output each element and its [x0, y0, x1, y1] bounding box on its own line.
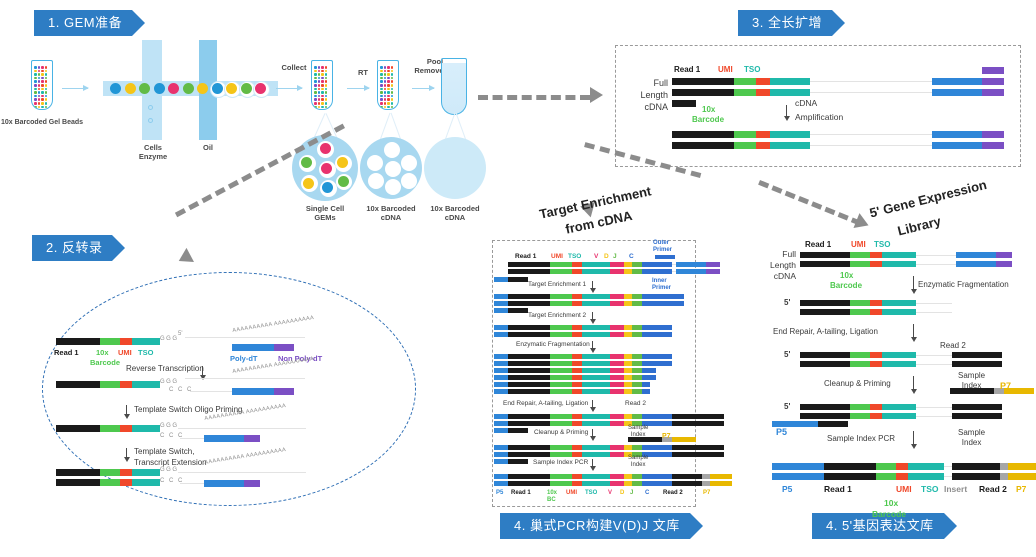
linker-line: [916, 303, 952, 304]
seg-barcode: [100, 479, 120, 486]
seg-barcode: [550, 474, 572, 479]
linker-line: [916, 264, 956, 265]
seg-j: [632, 262, 642, 267]
gem-droplet: [385, 161, 401, 177]
tag-tso: TSO: [138, 348, 153, 357]
barcode-dots: [380, 66, 396, 103]
seg-barcode: [876, 473, 896, 480]
seg-p5-blue: [494, 389, 508, 394]
seg-v: [610, 414, 624, 419]
seg-umi: [870, 261, 882, 267]
tag-10x: 10x: [840, 271, 853, 280]
seg-read1: [508, 421, 550, 426]
gem-droplet: [401, 173, 417, 189]
seg-d: [624, 445, 632, 450]
seg-tso: [582, 452, 610, 457]
tag-read1: Read 1: [515, 253, 536, 260]
seg-purple: [996, 252, 1012, 258]
seg-purple-free: [982, 67, 1004, 74]
seg-j: [632, 301, 642, 306]
seg-tso: [582, 421, 610, 426]
cell-bead: [301, 157, 312, 168]
legend-insert: Insert: [944, 484, 967, 494]
seg-barcode: [550, 481, 572, 486]
flow-arrow-3: [347, 88, 369, 89]
seg-p5-blue: [494, 294, 508, 299]
seg-read2: [952, 463, 1000, 470]
seg-j: [632, 382, 642, 387]
seg-d: [624, 474, 632, 479]
seg-c: [642, 368, 656, 373]
legend-read2: Read 2: [979, 484, 1007, 494]
seg-tso: [582, 332, 610, 337]
tag-read1: Read 1: [805, 240, 831, 249]
legend-read1: Read 1: [824, 484, 852, 494]
seg-barcode: [550, 414, 572, 419]
gel-bead: [168, 83, 179, 94]
seg-read2: [952, 361, 1002, 367]
seg-barcode: [734, 131, 756, 138]
seg-read2: [672, 474, 702, 479]
ge-step-3-arrow: [913, 376, 914, 390]
chip-label-oil: Oil: [190, 143, 226, 152]
seg-tso: [582, 375, 610, 380]
seg-tso: [582, 474, 610, 479]
seg-barcode: [100, 338, 120, 345]
gel-bead: [241, 83, 252, 94]
flow-arrow-2: [276, 88, 302, 89]
gel-bead: [110, 83, 121, 94]
seg-umi: [572, 445, 582, 450]
cell-bead: [320, 143, 331, 154]
seg-barcode: [550, 294, 572, 299]
cell-bead: [338, 176, 349, 187]
seg-non-polydT: [274, 388, 294, 395]
label-outer-primer: Outer Primer: [653, 240, 672, 254]
gem-label-barcoded-cdna-1: 10x Barcoded cDNA: [363, 204, 419, 222]
gem-droplet: [401, 155, 417, 171]
seg-umi: [870, 413, 882, 419]
seg-barcode: [850, 261, 870, 267]
connector-to-gene-expression: [758, 180, 862, 226]
seg-v: [610, 301, 624, 306]
rt-step-3-arrow: [126, 448, 127, 458]
seg-tso: [882, 352, 916, 358]
linker-line: [916, 364, 952, 365]
seg-d: [624, 414, 632, 419]
seg-umi: [120, 381, 132, 388]
seg-c: [642, 474, 672, 479]
linker-line: [916, 416, 952, 417]
tube-body: [441, 63, 467, 115]
seg-read2: [952, 352, 1002, 358]
banner-amplify-label: 3. 全长扩增: [752, 15, 822, 30]
gem-label-barcoded-cdna-2: 10x Barcoded cDNA: [427, 204, 483, 222]
cell-particle: [148, 118, 153, 123]
seg-d: [624, 325, 632, 330]
rt-step-3b: Transcript Extension: [134, 458, 207, 467]
seg-barcode: [850, 413, 870, 419]
banner-full-length-amplification: 3. 全长扩增: [738, 10, 832, 36]
seg-tso: [770, 89, 810, 96]
seg-d: [624, 481, 632, 486]
seg-barcode: [550, 325, 572, 330]
seg-umi: [572, 474, 582, 479]
seg-blue: [676, 262, 706, 267]
seg-umi: [756, 89, 770, 96]
seg-read1: [508, 474, 550, 479]
seg-v: [610, 421, 624, 426]
mid-step-4: End Repair, A-tailing, Ligation: [503, 400, 588, 407]
tag-umi: UMI: [851, 240, 866, 249]
seg-v: [610, 262, 624, 267]
seg-v: [610, 361, 624, 366]
seg-c: [642, 389, 650, 394]
seg-p5-blue: [494, 445, 508, 450]
linker-line: [916, 255, 956, 256]
rt-step-2-arrow: [126, 405, 127, 415]
seg-barcode: [850, 309, 870, 315]
gel-bead: [125, 83, 136, 94]
seg-barcode: [876, 463, 896, 470]
legend-tso: TSO: [921, 484, 938, 494]
seg-read1: [508, 332, 550, 337]
mid-step-4-arrow: [592, 400, 593, 408]
seg-read1: [800, 309, 850, 315]
seg-v: [610, 389, 624, 394]
ge-step-4-arrow: [913, 431, 914, 445]
seg-j: [632, 445, 642, 450]
seg-c: [642, 325, 672, 330]
gem-droplet: [367, 155, 383, 171]
seg-sample-index: [702, 474, 710, 479]
seg-read1: [672, 142, 734, 149]
seg-tso: [132, 469, 160, 476]
seg-p5-blue: [494, 421, 508, 426]
seg-polydT: [232, 344, 274, 351]
seg-umi: [120, 425, 132, 432]
seg-barcode: [850, 300, 870, 306]
seg-umi: [572, 325, 582, 330]
seg-barcode: [734, 89, 756, 96]
seg-read1: [672, 131, 734, 138]
chip-label-cells-enzyme: Cells Enzyme: [126, 143, 180, 161]
seg-j: [632, 481, 642, 486]
tag-umi: UMI: [118, 348, 132, 357]
seg-tso: [582, 354, 610, 359]
mid-step-6-arrow: [592, 459, 593, 467]
flow-arrow-1: [62, 88, 88, 89]
seg-read1: [56, 425, 100, 432]
seg-tso: [908, 463, 944, 470]
seg-purple: [982, 78, 1004, 85]
seg-p5-blue: [494, 361, 508, 366]
tag-10x: 10x: [96, 348, 109, 357]
seg-barcode: [550, 445, 572, 450]
flow-arrow-4: [412, 88, 434, 89]
pooled-tube: [441, 58, 467, 115]
seg-tso: [882, 309, 916, 315]
banner-reverse-transcription: 2. 反转录: [32, 235, 112, 261]
mid-step-1-arrow: [592, 281, 593, 289]
legend-p5: P5: [782, 484, 792, 494]
seg-tso: [582, 294, 610, 299]
seg-d: [624, 382, 632, 387]
seg-tso: [770, 131, 810, 138]
seg-j: [632, 354, 642, 359]
collect-tube: [311, 60, 333, 110]
seg-tso: [132, 479, 160, 486]
banner-vdj-label: 4. 巢式PCR构建V(D)J 文库: [514, 518, 680, 533]
tag-read1: Read 1: [674, 65, 700, 74]
seg-v: [610, 445, 624, 450]
tag-polydT: Poly-dT: [230, 354, 258, 363]
seg-polydT: [204, 435, 244, 442]
seg-d: [624, 361, 632, 366]
seg-barcode: [850, 252, 870, 258]
cell-bead: [303, 178, 314, 189]
seg-barcode: [550, 301, 572, 306]
mrna-line: [185, 378, 305, 379]
seg-read2: [952, 404, 1002, 410]
mid-read2-label: Read 2: [625, 400, 646, 407]
mid-step-1: Target Enrichment 1: [528, 281, 586, 288]
seg-read1: [508, 368, 550, 373]
seg-read1: [508, 294, 550, 299]
seg-umi: [870, 252, 882, 258]
seg-c: [642, 354, 672, 359]
five-prime-label: 5': [784, 402, 790, 411]
gem-droplet: [368, 173, 384, 189]
seg-barcode: [550, 361, 572, 366]
seg-sample-index: [702, 481, 710, 486]
seg-barcode: [850, 352, 870, 358]
ge-heading-line2: Library: [896, 213, 942, 238]
gel-bead: [255, 83, 266, 94]
ge-full-length-label: Full Length cDNA: [762, 249, 796, 282]
seg-v: [610, 452, 624, 457]
linker-line: [916, 355, 952, 356]
pooled-cdna-circle: [424, 137, 486, 199]
seg-umi: [572, 375, 582, 380]
seg-read1: [508, 389, 550, 394]
linker-line: [916, 312, 952, 313]
seg-tso: [770, 78, 810, 85]
seg-j: [632, 332, 642, 337]
seg-read1: [508, 354, 550, 359]
seg-read1: [508, 375, 550, 380]
banner-gem-prep: 1. GEM准备: [34, 10, 132, 36]
connector-arrowhead: [175, 248, 194, 268]
seg-tso: [582, 445, 610, 450]
banner-rt-label: 2. 反转录: [46, 240, 102, 255]
seg-purple: [706, 262, 720, 267]
legend-umi: UMI: [896, 484, 912, 494]
seg-barcode: [734, 142, 756, 149]
seg-read1: [508, 301, 550, 306]
seg-p7: [710, 481, 732, 486]
seg-d: [624, 301, 632, 306]
seg-read2: [672, 421, 724, 426]
tag-barcode: Barcode: [830, 281, 862, 290]
gel-bead: [226, 83, 237, 94]
seg-j: [632, 325, 642, 330]
tag-read1: Read 1: [54, 348, 79, 357]
seg-tso: [582, 269, 610, 274]
seg-read1: [800, 252, 850, 258]
seg-umi: [572, 452, 582, 457]
seg-free-read1: [508, 277, 528, 282]
seg-blue: [956, 261, 996, 267]
seg-umi: [572, 389, 582, 394]
seg-d: [624, 269, 632, 274]
seg-tso: [582, 414, 610, 419]
seg-sample-index: [1000, 463, 1008, 470]
seg-free-read1: [508, 308, 528, 313]
gem-droplet: [384, 142, 400, 158]
seg-v: [610, 332, 624, 337]
seg-read1: [56, 381, 100, 388]
seg-umi: [120, 479, 132, 486]
cell-bead: [337, 157, 348, 168]
seg-umi: [572, 414, 582, 419]
ggg-label: GGG: [160, 379, 179, 385]
seg-umi: [572, 361, 582, 366]
rt-step-1: Reverse Transcription: [126, 364, 204, 373]
banner-vdj-library: 4. 巢式PCR构建V(D)J 文库: [500, 513, 690, 539]
seg-barcode: [550, 452, 572, 457]
seg-purple: [706, 269, 720, 274]
seg-blue: [932, 131, 982, 138]
seg-umi: [870, 300, 882, 306]
seg-v: [610, 382, 624, 387]
seg-p5-blue: [494, 382, 508, 387]
seg-umi: [572, 269, 582, 274]
seg-v: [610, 294, 624, 299]
gel-bead: [212, 83, 223, 94]
seg-read1: [800, 300, 850, 306]
seg-v: [610, 325, 624, 330]
seg-p7: [710, 474, 732, 479]
seg-p5-blue: [494, 452, 508, 457]
amplify-step-cdna: cDNA: [795, 98, 817, 108]
gel-bead: [183, 83, 194, 94]
seg-barcode: [550, 382, 572, 387]
seg-d: [624, 389, 632, 394]
barcode-dots: [314, 66, 330, 103]
seg-d: [624, 354, 632, 359]
seg-tso: [582, 368, 610, 373]
ge-p5-label: P5: [776, 427, 787, 437]
mid-step-2: Target Enrichment 2: [528, 312, 586, 319]
seg-umi: [120, 469, 132, 476]
seg-purple: [982, 131, 1004, 138]
outer-primer-bar: [655, 255, 675, 259]
tag-tso: TSO: [744, 65, 760, 74]
seg-umi: [896, 463, 908, 470]
ge-sample-index-label-2: Sample Index: [958, 428, 985, 448]
mid-step-3-arrow: [592, 341, 593, 349]
seg-barcode: [550, 332, 572, 337]
tag-v: V: [594, 253, 598, 260]
ge-step-3: Cleanup & Priming: [824, 379, 891, 388]
seg-polydT: [204, 480, 244, 487]
seg-read1: [508, 269, 550, 274]
seg-read1: [824, 473, 876, 480]
ge-heading-line1: 5' Gene Expression: [868, 177, 988, 221]
tube-body: [311, 64, 333, 110]
seg-v: [610, 368, 624, 373]
ge-step-2-arrow: [913, 324, 914, 338]
seg-tso: [882, 404, 916, 410]
legend-10xbc: 10xBC: [547, 490, 557, 503]
mid-step-2-arrow: [592, 312, 593, 320]
seg-p5-blue: [494, 325, 508, 330]
legend-v: V: [608, 490, 612, 497]
seg-v: [610, 354, 624, 359]
seg-read1: [672, 89, 734, 96]
seg-read1: [56, 479, 100, 486]
seg-blue: [932, 142, 982, 149]
gel-bead: [154, 83, 165, 94]
tag-tso: TSO: [568, 253, 581, 260]
seg-read1: [508, 325, 550, 330]
rt-step-1-arrow: [202, 366, 203, 376]
ge-step-1: Enzymatic Fragmentation: [918, 280, 1009, 289]
seg-c: [642, 332, 672, 337]
mid-step-5-arrow: [592, 429, 593, 437]
seg-umi: [572, 301, 582, 306]
connector-to-amplification: [478, 95, 590, 100]
seg-blue: [932, 78, 982, 85]
legend-barcode: Barcode: [872, 509, 906, 519]
seg-umi: [572, 382, 582, 387]
seg-barcode: [550, 389, 572, 394]
mid-sample-index-label-2: Sample Index: [628, 455, 648, 469]
cdna-line: [180, 483, 204, 484]
banner-gem-prep-label: 1. GEM准备: [48, 15, 122, 30]
seg-free-primer: [672, 100, 696, 107]
workflow-diagram: 1. GEM准备 3. 全长扩增 2. 反转录 4. 巢式PCR构建V(D)J …: [0, 0, 1036, 557]
ge-step-1-arrow: [913, 276, 914, 290]
seg-umi: [756, 78, 770, 85]
seg-read1: [800, 352, 850, 358]
seg-p5-blue: [494, 414, 508, 419]
seg-umi: [870, 404, 882, 410]
cell-bead: [322, 182, 333, 193]
seg-umi: [572, 421, 582, 426]
linker-line: [916, 407, 952, 408]
seg-p5-blue: [494, 474, 508, 479]
seg-c: [642, 262, 672, 267]
seg-tso: [582, 389, 610, 394]
label-inner-primer: Inner Primer: [652, 278, 671, 292]
ggg-label: GGG: [160, 336, 179, 342]
cdna-line: [190, 391, 232, 392]
seg-p7: [1008, 473, 1036, 480]
seg-purple: [982, 89, 1004, 96]
seg-j: [632, 474, 642, 479]
gem-droplet: [385, 179, 401, 195]
seg-c: [642, 382, 650, 387]
gem-label-single-cell: Single Cell GEMs: [297, 204, 353, 222]
tag-j: J: [613, 253, 617, 260]
seg-read2: [952, 413, 1002, 419]
seg-read1: [824, 463, 876, 470]
seg-read1-primer: [818, 421, 848, 427]
seg-umi: [756, 131, 770, 138]
step-label-collect: Collect: [274, 63, 314, 72]
